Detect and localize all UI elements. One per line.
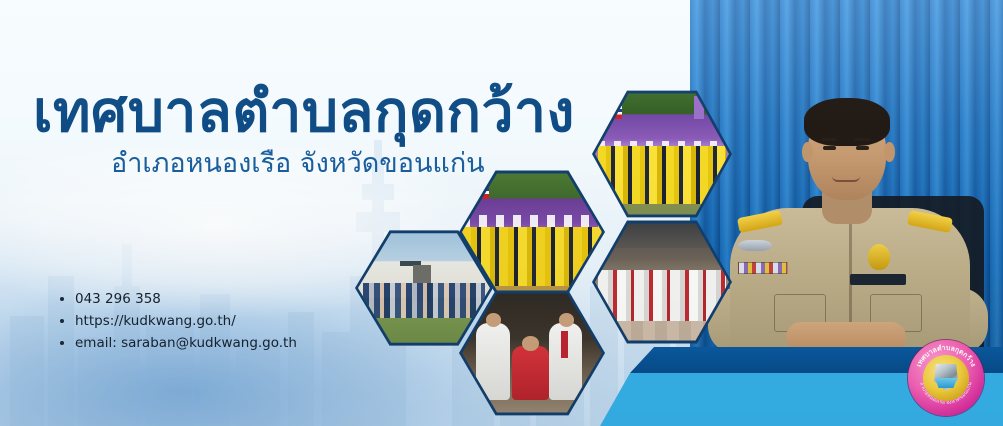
people-row (598, 270, 727, 324)
eyebrow-left (821, 138, 837, 141)
crest-badge-icon (868, 244, 890, 270)
seated-resident (512, 346, 548, 401)
red-tie (561, 331, 568, 358)
seal-water-icon (935, 378, 957, 388)
page-title: เทศบาลตำบลกุดกว้าง (33, 82, 633, 142)
helper-left (476, 323, 510, 400)
white-caps-row (462, 215, 602, 227)
helper-right-head (559, 313, 574, 327)
headline-block: เทศบาลตำบลกุดกว้าง อำเภอหนองเรือ จังหวัด… (33, 82, 633, 181)
people-row (598, 146, 727, 204)
name-tag (850, 274, 906, 285)
hair (804, 98, 890, 146)
resident-head (522, 336, 539, 351)
ear-left (802, 142, 813, 162)
helper-left-head (486, 313, 501, 327)
municipal-seal[interactable]: เทศบาลตำบลกุดกว้าง อำเภอหนองเรือ จังหวัด… (908, 340, 984, 416)
contact-email[interactable]: email: saraban@kudkwang.go.th (58, 332, 297, 354)
contact-list: 043 296 358 https://kudkwang.go.th/ emai… (58, 288, 297, 354)
municipality-banner: เทศบาลตำบลกุดกว้าง อำเภอหนองเรือ จังหวัด… (0, 0, 1003, 426)
eye-right (856, 146, 869, 150)
wing-badge-icon (738, 240, 772, 251)
ear-right (884, 142, 895, 162)
people-row (363, 283, 484, 317)
service-ribbons (738, 262, 788, 274)
mouth (832, 176, 860, 182)
contact-phone: 043 296 358 (58, 288, 297, 310)
eye-left (823, 146, 836, 150)
contact-website[interactable]: https://kudkwang.go.th/ (58, 310, 297, 332)
eyebrow-right (854, 138, 870, 141)
